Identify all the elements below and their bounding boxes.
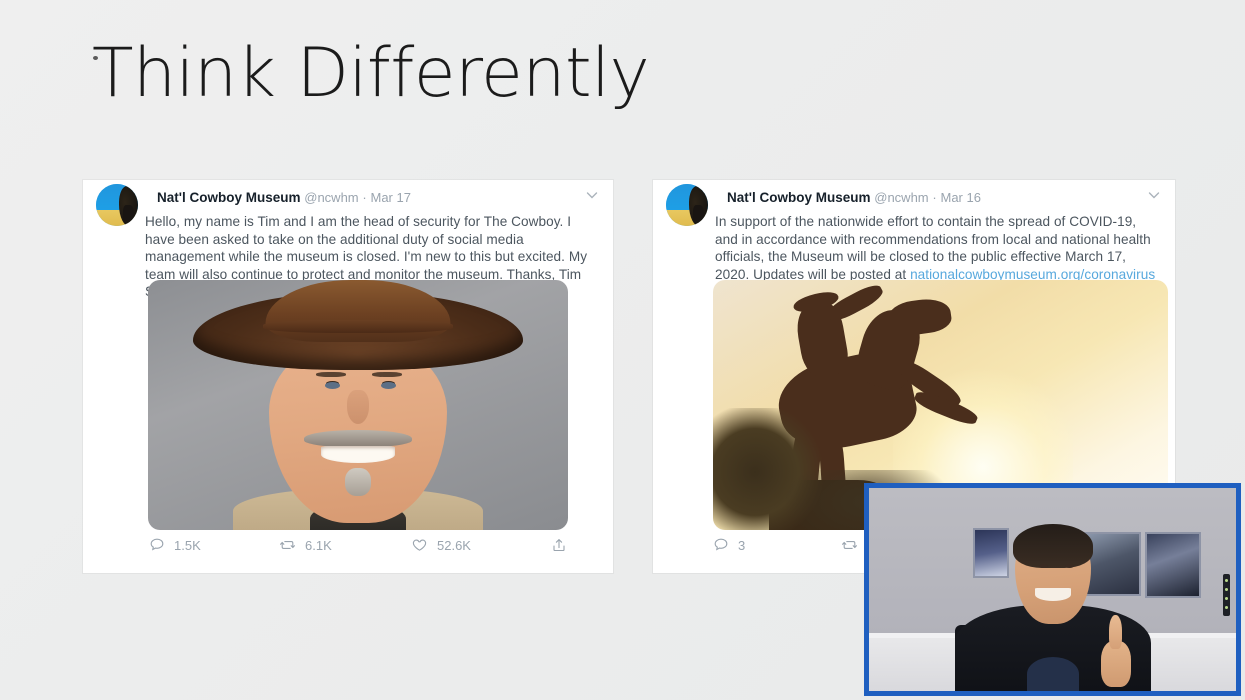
presenter-smile <box>1035 588 1071 601</box>
tweet-author-handle[interactable]: @ncwhm <box>304 190 358 205</box>
tweet-meta-separator: · <box>932 190 936 205</box>
presenter-hair <box>1013 524 1093 568</box>
avatar[interactable] <box>96 184 138 226</box>
tweet-action-bar: 1.5K 6.1K 52.6K <box>83 535 613 563</box>
led-device-strip <box>1223 574 1230 616</box>
tweet-meta: Nat'l Cowboy Museum @ncwhm · Mar 17 <box>157 186 601 207</box>
share-action[interactable] <box>551 537 567 553</box>
presenter-eye-right <box>1065 564 1074 568</box>
reply-count: 3 <box>738 538 745 553</box>
photo-nose <box>347 390 369 424</box>
chevron-down-icon[interactable] <box>585 188 599 202</box>
tweet-image-cowboy-portrait[interactable] <box>148 280 568 530</box>
retweet-icon <box>279 537 296 553</box>
tweet-meta: Nat'l Cowboy Museum @ncwhm · Mar 16 <box>727 186 1163 207</box>
photo-brow-right <box>372 372 402 377</box>
photo-soul-patch <box>345 468 371 496</box>
page-title: Think Differently <box>92 34 649 113</box>
tweet-meta-separator: · <box>362 190 366 205</box>
photo-hat-band <box>263 320 453 333</box>
like-action[interactable]: 52.6K <box>411 537 471 553</box>
reply-icon <box>149 537 165 553</box>
tweet-date[interactable]: Mar 17 <box>371 190 411 205</box>
avatar-statue-base <box>693 205 704 224</box>
tweet-author-handle[interactable]: @ncwhm <box>874 190 928 205</box>
photo-smile <box>321 446 395 463</box>
photo-brow-left <box>316 372 346 377</box>
photo-eye-left <box>325 382 340 389</box>
photo-eye-right <box>381 382 396 389</box>
tweet-header: Nat'l Cowboy Museum @ncwhm · Mar 16 <box>653 180 1175 212</box>
wall-picture-frame <box>973 528 1009 578</box>
reply-icon <box>713 537 729 553</box>
retweet-icon <box>841 537 858 553</box>
tweet-author-name[interactable]: Nat'l Cowboy Museum <box>727 190 870 205</box>
reply-action[interactable]: 3 <box>713 537 745 553</box>
wall-picture-frame <box>1145 532 1201 598</box>
like-count: 52.6K <box>437 538 471 553</box>
presenter-shirt <box>1027 657 1079 691</box>
retweet-action[interactable]: 6.1K <box>279 537 332 553</box>
webcam-video-overlay[interactable] <box>864 483 1241 696</box>
presentation-slide: Think Differently Nat'l Cowboy Museum @n… <box>0 0 1245 700</box>
reply-count: 1.5K <box>174 538 201 553</box>
presenter-eye-left <box>1039 564 1048 568</box>
reply-action[interactable]: 1.5K <box>149 537 201 553</box>
tweet-card[interactable]: Nat'l Cowboy Museum @ncwhm · Mar 17 Hell… <box>83 180 613 573</box>
avatar[interactable] <box>666 184 708 226</box>
retweet-count: 6.1K <box>305 538 332 553</box>
tweet-text: In support of the nationwide effort to c… <box>715 213 1159 283</box>
tweet-date[interactable]: Mar 16 <box>941 190 981 205</box>
tweet-header: Nat'l Cowboy Museum @ncwhm · Mar 17 <box>83 180 613 212</box>
photo-moustache <box>304 430 412 447</box>
chevron-down-icon[interactable] <box>1147 188 1161 202</box>
photo-horse-head <box>887 296 953 338</box>
tweet-author-name[interactable]: Nat'l Cowboy Museum <box>157 190 300 205</box>
avatar-statue-base <box>123 205 134 224</box>
presenter-index-finger <box>1109 615 1122 649</box>
share-icon <box>551 537 567 553</box>
heart-icon <box>411 537 428 553</box>
